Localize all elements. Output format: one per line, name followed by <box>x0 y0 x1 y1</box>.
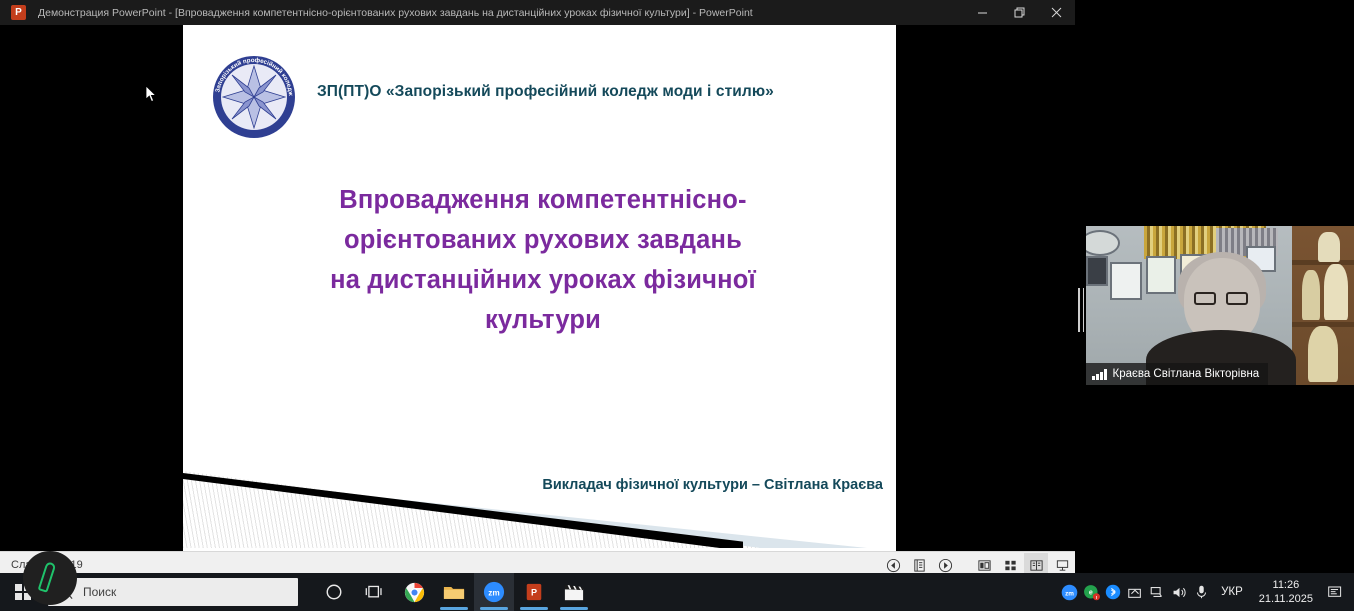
shield-warning-icon: e ! <box>1083 584 1100 601</box>
speaker-icon <box>1171 584 1188 601</box>
trophy-1 <box>1318 232 1340 262</box>
slide-title: Впровадження компетентнісно- орієнтовани… <box>233 180 853 340</box>
clock-time: 11:26 <box>1259 578 1313 592</box>
clock[interactable]: 11:26 21.11.2025 <box>1252 578 1320 606</box>
tray-zoom[interactable]: zm <box>1058 573 1080 611</box>
task-view-button[interactable] <box>354 573 394 611</box>
mouse-cursor <box>146 86 158 104</box>
svg-text:e: e <box>1088 588 1092 596</box>
language-indicator[interactable]: УКР <box>1212 586 1252 598</box>
slide-canvas[interactable]: Запорізький професійний коледж моди і ст… <box>183 25 896 551</box>
notifications-icon <box>1327 584 1344 601</box>
action-center-button[interactable] <box>1320 573 1350 611</box>
participant-glasses <box>1194 292 1248 305</box>
close-button[interactable] <box>1038 0 1075 25</box>
audio-signal-icon <box>1092 369 1107 380</box>
chevron-up-icon <box>1127 584 1143 600</box>
search-input[interactable]: Поиск <box>48 578 298 606</box>
slide-title-line-1: Впровадження компетентнісно- <box>233 180 853 220</box>
clock-date: 21.11.2025 <box>1259 592 1313 606</box>
wall-frame-2 <box>1110 262 1142 300</box>
clapperboard-icon <box>563 582 585 602</box>
window-controls <box>964 0 1075 25</box>
wall-plate <box>1086 230 1120 256</box>
tray-hidden-icons[interactable] <box>1124 573 1146 611</box>
tray-network[interactable] <box>1146 573 1168 611</box>
slide-title-line-4: культури <box>233 300 853 340</box>
slide-title-line-3: на дистанційних уроках фізичної <box>233 260 853 300</box>
green-pen-icon <box>38 561 57 593</box>
trophy-4 <box>1308 326 1338 382</box>
video-background <box>1086 226 1354 385</box>
folder-icon <box>443 583 465 602</box>
tray-volume[interactable] <box>1168 573 1190 611</box>
trophy-shelf <box>1292 226 1354 385</box>
powerpoint-window: Демонстрация PowerPoint - [Впровадження … <box>0 0 1075 578</box>
window-titlebar[interactable]: Демонстрация PowerPoint - [Впровадження … <box>0 0 1075 25</box>
zoom-app-icon: zm <box>1061 584 1078 601</box>
wall-frame-3 <box>1146 256 1176 294</box>
trophy-2 <box>1302 270 1320 320</box>
panel-resize-grip[interactable] <box>1077 286 1085 334</box>
window-title: Демонстрация PowerPoint - [Впровадження … <box>38 7 753 19</box>
screen: Демонстрация PowerPoint - [Впровадження … <box>0 0 1354 611</box>
tray-microphone[interactable] <box>1190 573 1212 611</box>
tray-bluetooth[interactable] <box>1102 573 1124 611</box>
cortana-circle-icon <box>325 583 343 601</box>
windows-taskbar: Поиск <box>0 573 1354 611</box>
taskbar-buttons: zm P <box>314 573 594 611</box>
minimize-button[interactable] <box>964 0 1001 25</box>
search-placeholder: Поиск <box>83 585 116 599</box>
zoom-button[interactable]: zm <box>474 573 514 611</box>
participant-name-bar: Краєва Світлана Вікторівна <box>1086 363 1268 385</box>
powerpoint-icon <box>11 5 26 20</box>
powerpoint-button[interactable]: P <box>514 573 554 611</box>
svg-text:P: P <box>531 588 537 598</box>
cortana-button[interactable] <box>314 573 354 611</box>
bluetooth-icon <box>1105 584 1121 600</box>
slide-header-text: ЗП(ПТ)О «Запорізький професійний коледж … <box>317 83 886 101</box>
slide-decoration <box>183 471 896 551</box>
ink-annotation-tool[interactable] <box>23 551 77 605</box>
chrome-icon <box>404 582 425 603</box>
video-editor-button[interactable] <box>554 573 594 611</box>
powerpoint-icon: P <box>524 582 544 602</box>
microphone-icon <box>1194 584 1209 600</box>
restore-button[interactable] <box>1001 0 1038 25</box>
tray-antivirus[interactable]: e ! <box>1080 573 1102 611</box>
file-explorer-button[interactable] <box>434 573 474 611</box>
slideshow-stage[interactable]: Запорізький професійний коледж моди і ст… <box>0 25 1075 551</box>
svg-text:zm: zm <box>1065 590 1074 597</box>
college-logo-icon: Запорізький професійний коледж моди і ст… <box>208 53 300 141</box>
svg-text:zm: zm <box>488 589 499 598</box>
trophy-3 <box>1324 264 1348 320</box>
task-view-icon <box>365 584 384 601</box>
network-icon <box>1149 584 1165 600</box>
slide-title-line-2: орієнтованих рухових завдань <box>233 220 853 260</box>
wall-frame-1 <box>1086 256 1108 286</box>
zoom-app-icon: zm <box>483 581 505 603</box>
chrome-button[interactable] <box>394 573 434 611</box>
system-tray: zm e ! <box>1058 573 1354 611</box>
participant-name: Краєва Світлана Вікторівна <box>1113 368 1260 380</box>
zoom-video-thumbnail[interactable]: Краєва Світлана Вікторівна <box>1086 226 1354 385</box>
